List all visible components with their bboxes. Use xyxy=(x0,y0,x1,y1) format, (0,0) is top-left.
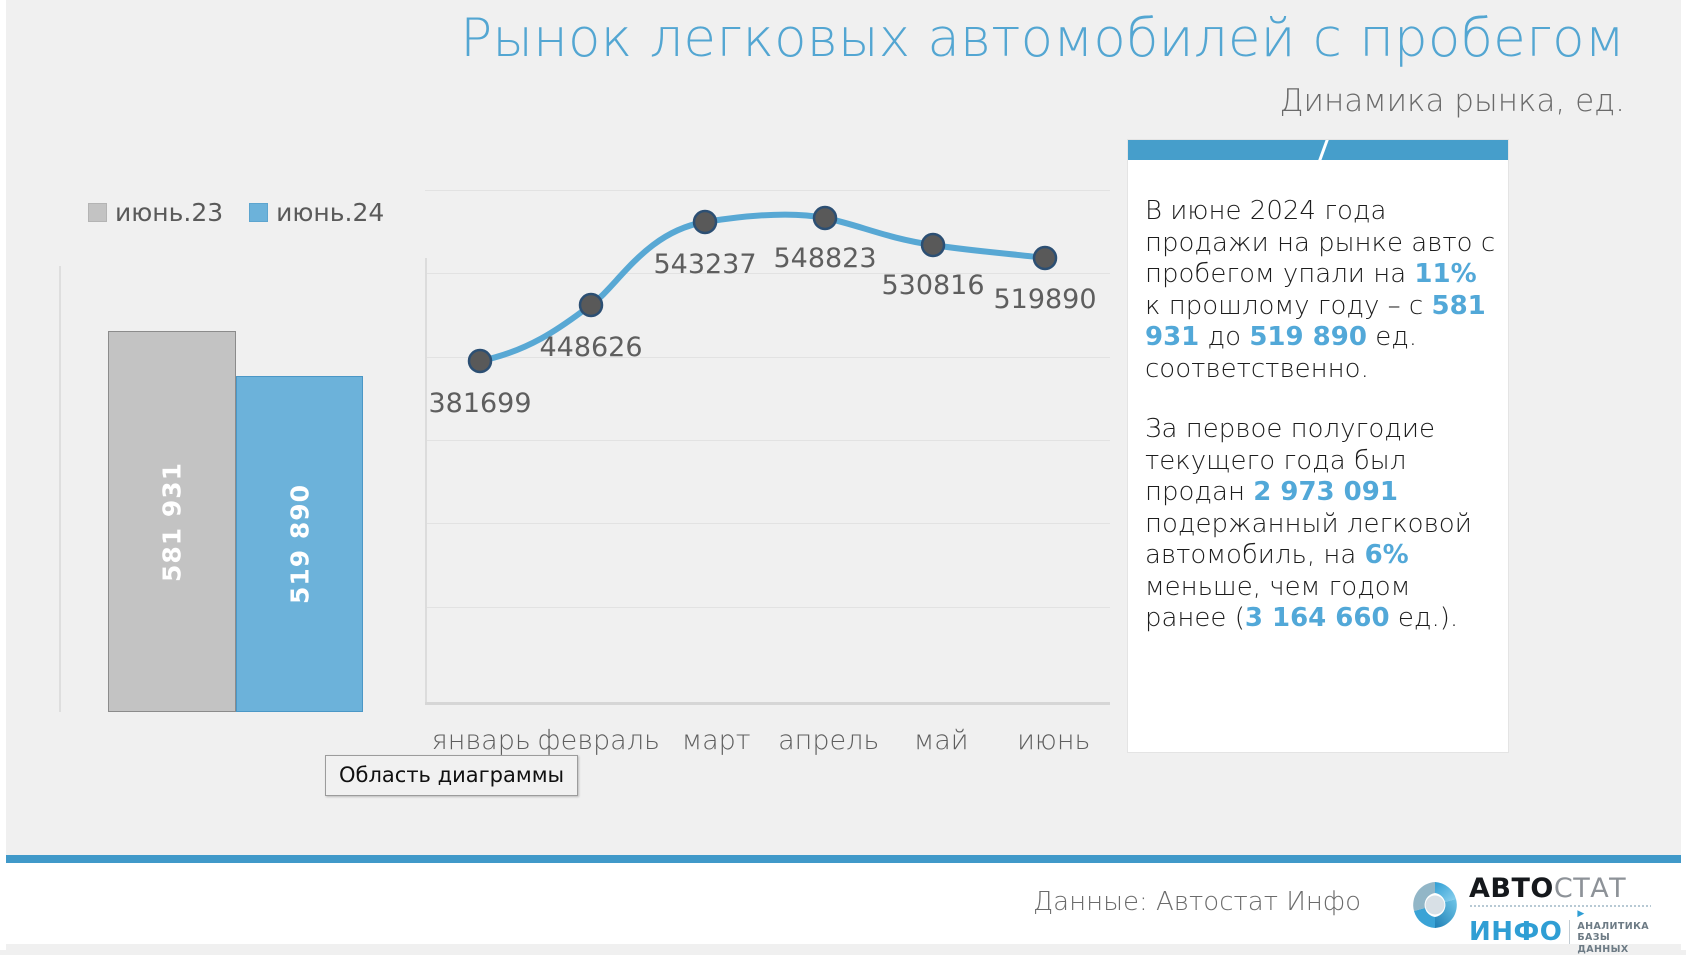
x-label-april: апрель xyxy=(772,725,885,756)
panel-text: В июне 2024 года продажи на рынке авто с… xyxy=(1145,196,1498,664)
point-label-february: 448626 xyxy=(539,332,642,363)
logo-stat: СТАТ xyxy=(1554,873,1626,904)
p1-seg2: к прошлому году – с xyxy=(1145,291,1432,321)
logo-tagline-line2: БАЗЫ ДАННЫХ xyxy=(1577,932,1628,955)
marker-point[interactable] xyxy=(469,350,491,372)
slide-canvas: Рынок легковых автомобилей с пробегом Ди… xyxy=(0,0,1686,950)
point-label-january: 381699 xyxy=(428,388,531,419)
marker-point[interactable] xyxy=(814,207,836,229)
bar-chart-y-axis xyxy=(59,266,61,712)
x-label-may: май xyxy=(885,725,998,756)
marker-point[interactable] xyxy=(580,294,602,316)
autostat-info-logo[interactable]: АВТОСТАТ ИНФО ▶ АНАЛИТИКА БАЗЫ ДАННЫХ xyxy=(1409,873,1659,935)
logo-wordmark: АВТОСТАТ ИНФО ▶ АНАЛИТИКА БАЗЫ ДАННЫХ xyxy=(1469,875,1659,955)
point-label-may: 530816 xyxy=(881,270,984,301)
p1-hl1: 11% xyxy=(1414,259,1476,289)
line-chart[interactable]: 381699 448626 543237 548823 530816 51989… xyxy=(405,150,1110,770)
page-title: Рынок легковых автомобилей с пробегом xyxy=(0,8,1625,70)
footer: Данные: Автостат Инфо АВТОСТАТ xyxy=(6,863,1681,944)
legend-label-june24: июнь.24 xyxy=(276,198,384,227)
line-chart-plot-area[interactable]: 381699 448626 543237 548823 530816 51989… xyxy=(405,150,1110,710)
p2-hl1: 2 973 091 xyxy=(1253,477,1398,507)
p1-seg3: до xyxy=(1199,322,1249,352)
panel-paragraph-2: За первое полугодие текущего года был пр… xyxy=(1145,414,1498,635)
point-label-march: 543237 xyxy=(653,249,756,280)
bar-june24[interactable]: 519 890 xyxy=(236,376,363,712)
logo-dotted-rule xyxy=(1469,905,1651,907)
line-chart-x-labels: январь февраль март апрель май июнь xyxy=(425,725,1110,756)
marker-point[interactable] xyxy=(1034,247,1056,269)
legend-item-june24[interactable]: июнь.24 xyxy=(249,198,384,227)
p2-hl3: 3 164 660 xyxy=(1245,603,1390,633)
point-label-april: 548823 xyxy=(773,243,876,274)
logo-tagline-line1: АНАЛИТИКА xyxy=(1577,921,1649,932)
bar-value-june24: 519 890 xyxy=(285,484,314,604)
bar-chart-legend: июнь.23 июнь.24 xyxy=(88,198,384,227)
bar-chart[interactable]: июнь.23 июнь.24 581 931 519 890 xyxy=(28,180,418,740)
footer-source-text: Данные: Автостат Инфо xyxy=(1033,887,1361,917)
legend-item-june23[interactable]: июнь.23 xyxy=(88,198,223,227)
legend-swatch-icon xyxy=(249,203,268,222)
p1-hl3: 519 890 xyxy=(1249,322,1367,352)
point-label-june: 519890 xyxy=(993,284,1096,315)
logo-avto: АВТО xyxy=(1469,873,1554,904)
logo-info: ИНФО xyxy=(1469,919,1562,945)
x-label-january: январь xyxy=(425,725,538,756)
panel-paragraph-1: В июне 2024 года продажи на рынке авто с… xyxy=(1145,196,1498,385)
p2-seg2: подержанный легковой автомобиль, на xyxy=(1145,509,1472,571)
logo-swirl-icon xyxy=(1409,879,1461,931)
x-label-february: февраль xyxy=(538,725,660,756)
play-triangle-icon: ▶ xyxy=(1577,909,1584,919)
panel-accent-bar xyxy=(1128,140,1508,160)
x-label-june: июнь xyxy=(997,725,1110,756)
bar-june23[interactable]: 581 931 xyxy=(108,331,236,712)
page-subtitle: Динамика рынка, ед. xyxy=(0,82,1625,120)
bar-value-june23: 581 931 xyxy=(158,461,187,581)
insight-panel: В июне 2024 года продажи на рынке авто с… xyxy=(1128,140,1508,752)
legend-swatch-icon xyxy=(88,203,107,222)
line-series-svg xyxy=(405,150,1110,710)
marker-point[interactable] xyxy=(922,234,944,256)
legend-label-june23: июнь.23 xyxy=(115,198,223,227)
logo-tagline: ▶ АНАЛИТИКА БАЗЫ ДАННЫХ xyxy=(1577,908,1659,955)
p2-seg4: ед.). xyxy=(1390,603,1459,633)
slash-icon xyxy=(1317,140,1331,160)
x-label-march: март xyxy=(660,725,773,756)
p2-hl2: 6% xyxy=(1365,540,1409,570)
logo-line-2: ИНФО ▶ АНАЛИТИКА БАЗЫ ДАННЫХ xyxy=(1469,908,1659,955)
logo-divider xyxy=(1569,920,1570,944)
marker-point[interactable] xyxy=(694,211,716,233)
footer-accent-bar xyxy=(6,855,1681,863)
chart-area-tooltip: Область диаграммы xyxy=(325,755,578,796)
logo-line-1: АВТОСТАТ xyxy=(1469,875,1659,902)
